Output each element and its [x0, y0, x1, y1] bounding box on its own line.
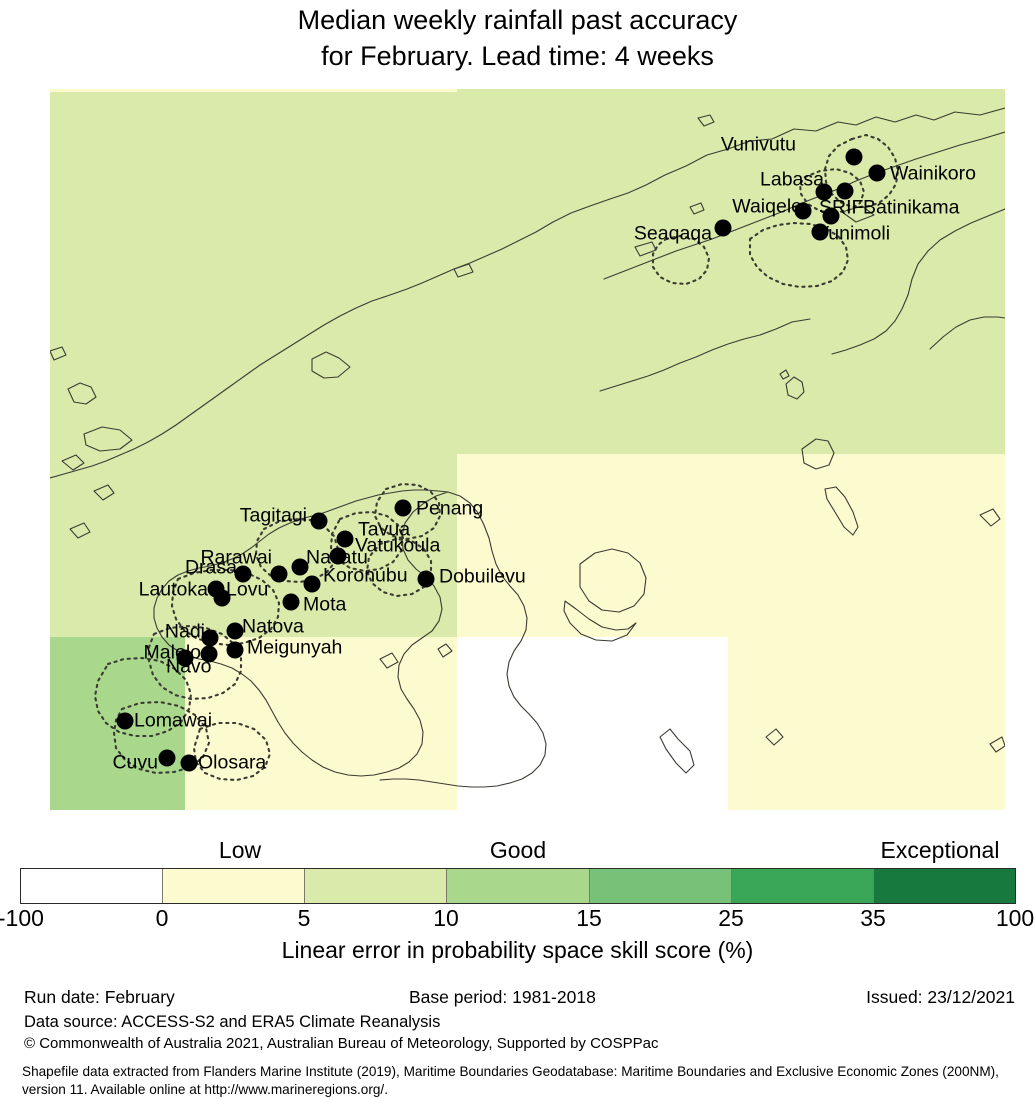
colorbar-segment-15-to-25	[590, 869, 732, 903]
station-label-navo: Navo	[166, 657, 212, 677]
station-marker-wainikoro[interactable]	[869, 165, 886, 182]
station-label-mota: Mota	[303, 595, 346, 615]
colorbar-segment-35-to-100	[874, 869, 1015, 903]
colorbar-tick-100: 100	[996, 905, 1034, 931]
station-label-waiqele: Waiqele	[732, 197, 802, 217]
station-label-koronubu: Koronubu	[323, 566, 408, 586]
colorbar-category-good: Good	[490, 836, 546, 864]
station-marker-lomawai[interactable]	[117, 713, 134, 730]
station-label-lovu: Lovu	[226, 580, 268, 600]
colorbar-tick-35: 35	[860, 905, 886, 931]
station-label-wainikoro: Wainikoro	[890, 164, 976, 184]
station-marker-mota[interactable]	[283, 594, 300, 611]
colorbar-axis-label: Linear error in probability space skill …	[0, 936, 1035, 964]
station-marker-tavua[interactable]	[337, 531, 354, 548]
colorbar-tick-25: 25	[718, 905, 744, 931]
station-label-batinikama: Batinikama	[863, 198, 959, 218]
station-label-natova: Natova	[242, 617, 304, 637]
colorbar-segment-25-to-35	[732, 869, 874, 903]
colorbar-category-labels: LowGoodExceptional	[0, 836, 1035, 864]
copyright-notice: © Commonwealth of Australia 2021, Austra…	[24, 1033, 658, 1055]
colorbar-tick-0: 0	[156, 905, 169, 931]
colorbar-gradient	[20, 868, 1016, 904]
title-line-2: for February. Lead time: 4 weeks	[0, 38, 1035, 74]
station-label-drasa: Drasa	[185, 558, 237, 578]
station-marker-srif[interactable]	[795, 203, 812, 220]
colorbar-tick-neg100: -100	[0, 905, 44, 931]
station-label-nadi: Nadi	[165, 622, 205, 642]
colorbar-tick-10: 10	[433, 905, 459, 931]
station-label-olosara: Olosara	[198, 753, 266, 773]
colorbar-segment--100-to-0	[21, 869, 163, 903]
station-label-cuvu: Cuvu	[112, 753, 158, 773]
run-date: Run date: February	[24, 985, 175, 1009]
colorbar: LowGoodExceptional -1000510152535100 Lin…	[0, 836, 1035, 931]
colorbar-category-low: Low	[219, 836, 261, 864]
station-marker-meigunyah[interactable]	[227, 642, 244, 659]
station-label-vunimoli: Vunimoli	[816, 224, 890, 244]
colorbar-tick-15: 15	[576, 905, 602, 931]
station-marker-dobuilevu[interactable]	[418, 571, 435, 588]
colorbar-tick-labels: -1000510152535100	[0, 905, 1035, 931]
station-label-labasa: Labasa	[760, 170, 824, 190]
colorbar-segment-5-to-10	[305, 869, 447, 903]
skill-score-map[interactable]: VunivutuWainikoroLabasaWaiqeleSRIFBatini…	[50, 89, 1005, 810]
colorbar-segment-0-to-5	[163, 869, 305, 903]
footer-meta-row: Run date: February Base period: 1981-201…	[0, 985, 1035, 1009]
issued-date: Issued: 23/12/2021	[866, 985, 1015, 1009]
station-label-meigunyah: Meigunyah	[247, 638, 342, 658]
station-marker-cuvu[interactable]	[159, 750, 176, 767]
station-marker-vunivutu[interactable]	[846, 149, 863, 166]
base-period: Base period: 1981-2018	[409, 985, 596, 1009]
title-line-1: Median weekly rainfall past accuracy	[0, 2, 1035, 38]
station-marker-koronubu[interactable]	[304, 576, 321, 593]
page-title: Median weekly rainfall past accuracy for…	[0, 0, 1035, 74]
colorbar-category-exceptional: Exceptional	[881, 836, 1000, 864]
station-label-lomawai: Lomawai	[134, 711, 212, 731]
shapefile-attribution: Shapefile data extracted from Flanders M…	[22, 1063, 1027, 1099]
station-marker-rarawai[interactable]	[271, 566, 288, 583]
station-marker-tagitagi[interactable]	[311, 513, 328, 530]
station-label-lautoka: Lautoka	[139, 580, 208, 600]
station-marker-olosara[interactable]	[181, 755, 198, 772]
station-marker-seaqaqa[interactable]	[715, 220, 732, 237]
station-marker-natova[interactable]	[227, 623, 244, 640]
station-marker-penang[interactable]	[395, 500, 412, 517]
station-label-tagitagi: Tagitagi	[240, 506, 307, 526]
station-label-penang: Penang	[416, 499, 483, 519]
colorbar-segment-10-to-15	[447, 869, 589, 903]
station-label-seaqaqa: Seaqaqa	[634, 224, 712, 244]
data-source: Data source: ACCESS-S2 and ERA5 Climate …	[24, 1011, 440, 1033]
station-label-dobuilevu: Dobuilevu	[439, 567, 526, 587]
station-label-vunivutu: Vunivutu	[721, 135, 796, 155]
colorbar-tick-5: 5	[298, 905, 311, 931]
